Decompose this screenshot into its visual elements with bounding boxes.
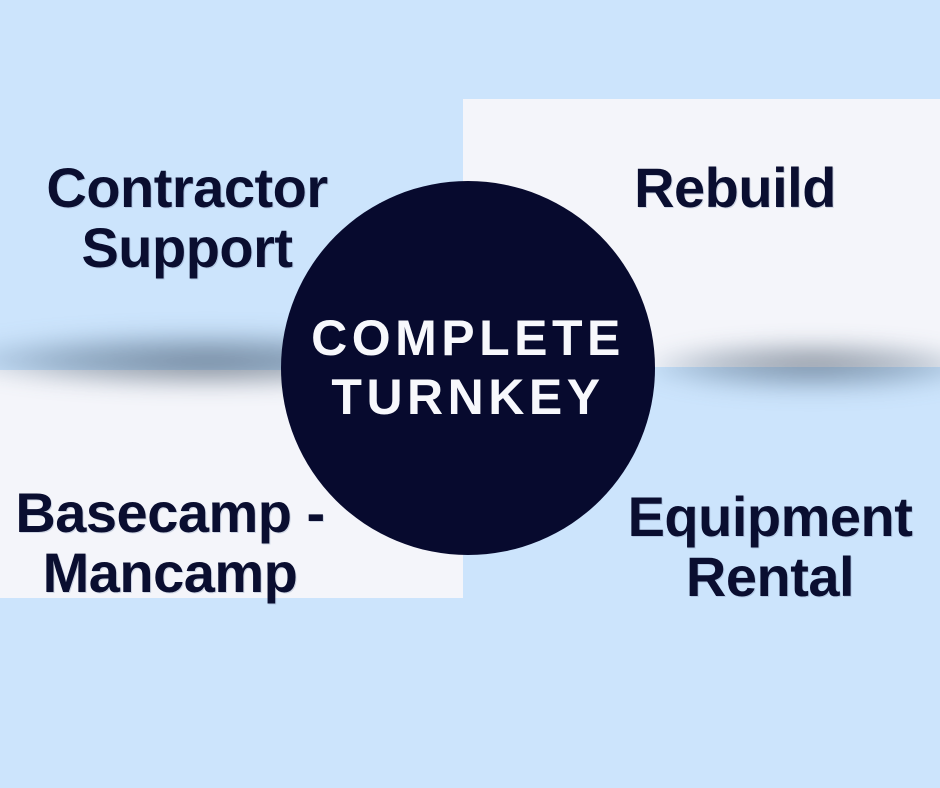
services-turnkey-graphic: Contractor Support Rebuild Basecamp - Ma… (0, 0, 940, 788)
label-contractor-support: Contractor Support (22, 158, 352, 279)
label-rebuild-line1: Rebuild (540, 158, 930, 218)
center-circle-line1: COMPLETE (311, 309, 625, 368)
center-circle-line2: TURNKEY (331, 368, 604, 427)
label-basecamp-mancamp-line1: Basecamp - (0, 483, 340, 543)
label-contractor-support-line1: Contractor (22, 158, 352, 218)
label-equipment-rental: Equipment Rental (600, 487, 940, 608)
center-circle-complete-turnkey: COMPLETE TURNKEY (281, 181, 655, 555)
label-equipment-rental-line1: Equipment (600, 487, 940, 547)
label-basecamp-mancamp-line2: Mancamp (0, 543, 340, 603)
label-rebuild: Rebuild (540, 158, 930, 218)
label-basecamp-mancamp: Basecamp - Mancamp (0, 483, 340, 604)
label-contractor-support-line2: Support (22, 218, 352, 278)
label-equipment-rental-line2: Rental (600, 547, 940, 607)
